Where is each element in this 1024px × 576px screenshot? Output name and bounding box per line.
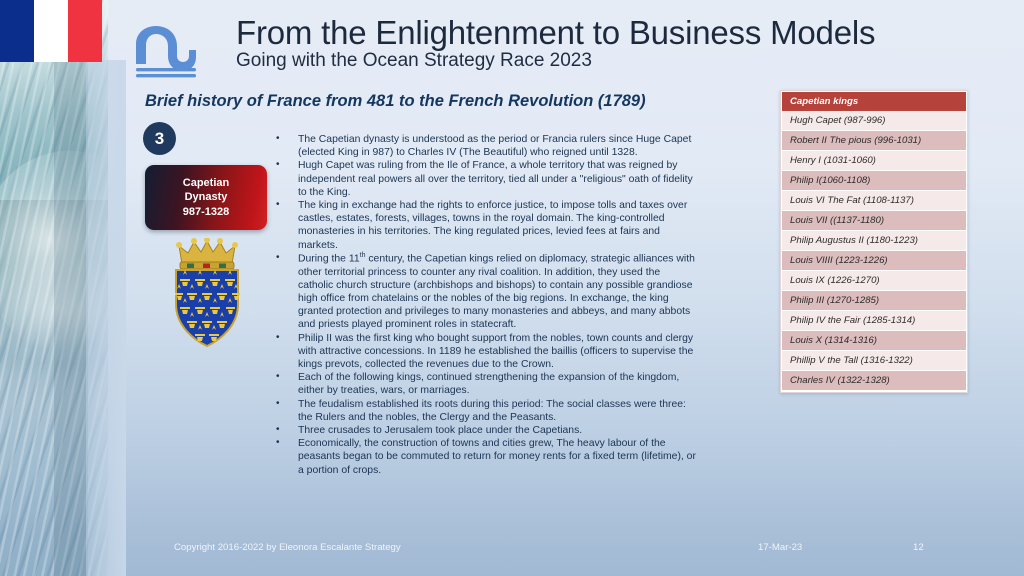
list-item-text: Economically, the construction of towns … — [298, 437, 697, 477]
table-row: Hugh Capet (987-996) — [782, 111, 966, 131]
table-row: Robert II The pious (996-1031) — [782, 131, 966, 151]
bullet-list: • The Capetian dynasty is understood as … — [272, 133, 697, 477]
bullet-marker: • — [272, 398, 298, 424]
table-row: Louis VI The Fat (1108-1137) — [782, 191, 966, 211]
bullet-marker: • — [272, 371, 298, 397]
list-item: • The Capetian dynasty is understood as … — [272, 133, 697, 159]
dynasty-card-line1: Capetian — [183, 176, 229, 190]
list-item-text: Hugh Capet was ruling from the Ile of Fr… — [298, 159, 697, 199]
sup-before: During the 11 — [298, 253, 360, 264]
flag-red-bar — [68, 0, 102, 62]
table-row: Louis X (1314-1316) — [782, 331, 966, 351]
list-item-text: The Capetian dynasty is understood as th… — [298, 133, 697, 159]
list-item-text: Three crusades to Jerusalem took place u… — [298, 424, 697, 437]
footer-page-number: 12 — [913, 542, 924, 553]
flag-blue-bar — [0, 0, 34, 62]
bullet-marker: • — [272, 133, 298, 159]
table-row: Philip IV the Fair (1285-1314) — [782, 311, 966, 331]
table-row: Philip I(1060-1108) — [782, 171, 966, 191]
page-subtitle: Going with the Ocean Strategy Race 2023 — [236, 51, 936, 72]
step-number-badge: 3 — [143, 122, 176, 155]
table-row: Louis VII ((1137-1180) — [782, 211, 966, 231]
table-row: Henry I (1031-1060) — [782, 151, 966, 171]
table-row: Philip III (1270-1285) — [782, 291, 966, 311]
photo-fade-edge — [86, 60, 126, 576]
list-item: • Three crusades to Jerusalem took place… — [272, 424, 697, 437]
dynasty-card-line2: Dynasty — [185, 190, 228, 204]
sup-after: century, the Capetian kings relied on di… — [298, 253, 695, 330]
table-row: Philip Augustus II (1180-1223) — [782, 231, 966, 251]
table-header: Capetian kings — [782, 92, 966, 111]
slide-canvas: From the Enlightenment to Business Model… — [0, 0, 1024, 576]
dynasty-card-line3: 987-1328 — [183, 205, 230, 219]
bullet-marker: • — [272, 252, 298, 332]
french-flag-icon — [0, 0, 102, 62]
list-item-text: The feudalism established its roots duri… — [298, 398, 697, 424]
list-item: • Economically, the construction of town… — [272, 437, 697, 477]
footer-date: 17-Mar-23 — [758, 542, 802, 553]
list-item-text: The king in exchange had the rights to e… — [298, 199, 697, 252]
bullet-marker: • — [272, 159, 298, 199]
photo-band-overlay — [54, 60, 88, 576]
list-item: • Philip II was the first king who bough… — [272, 332, 697, 372]
list-item-text: Philip II was the first king who bought … — [298, 332, 697, 372]
capetian-kings-table: Capetian kings Hugh Capet (987-996) Robe… — [780, 90, 968, 393]
list-item: • During the 11th century, the Capetian … — [272, 252, 697, 332]
list-item: • The feudalism established its roots du… — [272, 398, 697, 424]
wave-icon — [132, 24, 204, 82]
list-item-text: During the 11th century, the Capetian ki… — [298, 252, 697, 332]
dynasty-card: Capetian Dynasty 987-1328 — [145, 165, 267, 230]
bullet-marker: • — [272, 424, 298, 437]
list-item: • The king in exchange had the rights to… — [272, 199, 697, 252]
list-item: • Hugh Capet was ruling from the Ile of … — [272, 159, 697, 199]
fleur-de-lis-shield-icon — [162, 238, 252, 350]
bullet-marker: • — [272, 199, 298, 252]
list-item-text: Each of the following kings, continued s… — [298, 371, 697, 397]
list-item: • Each of the following kings, continued… — [272, 371, 697, 397]
footer-copyright: Copyright 2016-2022 by Eleonora Escalant… — [174, 542, 401, 553]
table-row: Phillip V the Tall (1316-1322) — [782, 351, 966, 371]
section-heading: Brief history of France from 481 to the … — [145, 92, 646, 111]
page-title: From the Enlightenment to Business Model… — [236, 16, 936, 51]
flag-white-bar — [34, 0, 68, 62]
table-row: Louis VIIII (1223-1226) — [782, 251, 966, 271]
table-row: Louis IX (1226-1270) — [782, 271, 966, 291]
table-row: Charles IV (1322-1328) — [782, 371, 966, 391]
title-block: From the Enlightenment to Business Model… — [236, 16, 936, 72]
bullet-marker: • — [272, 437, 298, 477]
bullet-marker: • — [272, 332, 298, 372]
